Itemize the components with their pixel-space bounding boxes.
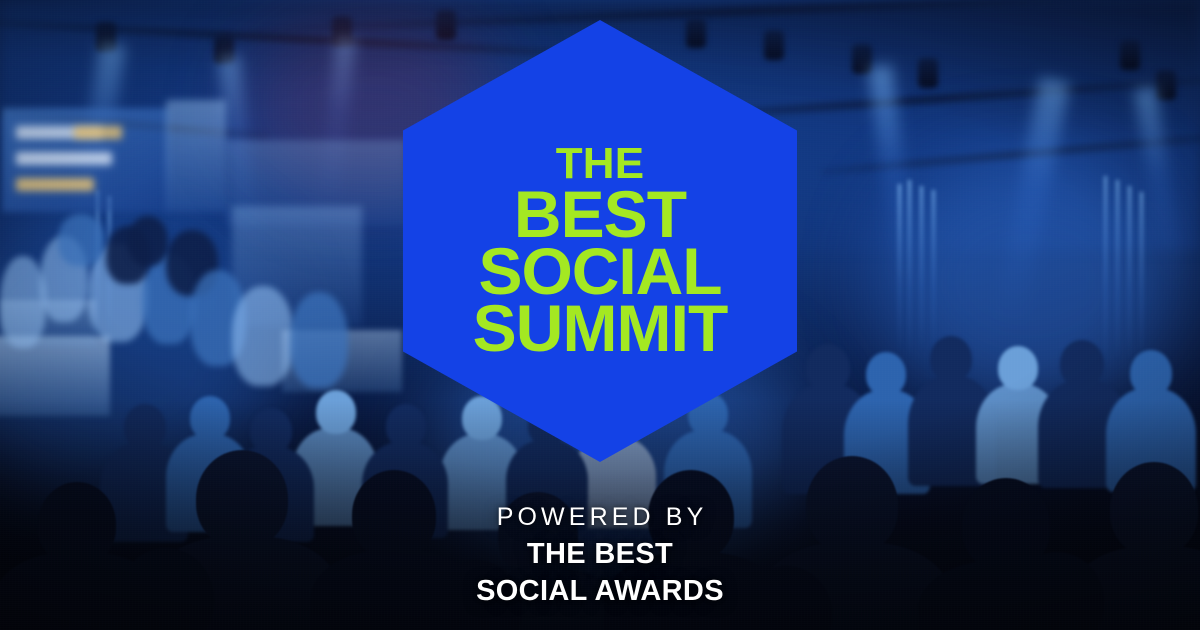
logo-line-best: BEST [514,187,686,241]
logo-line-social: SOCIAL [478,244,721,298]
powered-by-brand-line1: THE BEST [527,539,673,569]
powered-by-lockup: POWERED BY THE BEST SOCIAL AWARDS [0,504,1200,606]
promo-banner: THE BEST SOCIAL SUMMIT POWERED BY THE BE… [0,0,1200,630]
logo-line-summit: SUMMIT [473,301,728,355]
powered-by-brand-line2: SOCIAL AWARDS [476,576,724,606]
powered-by-prefix: POWERED BY [493,504,708,530]
